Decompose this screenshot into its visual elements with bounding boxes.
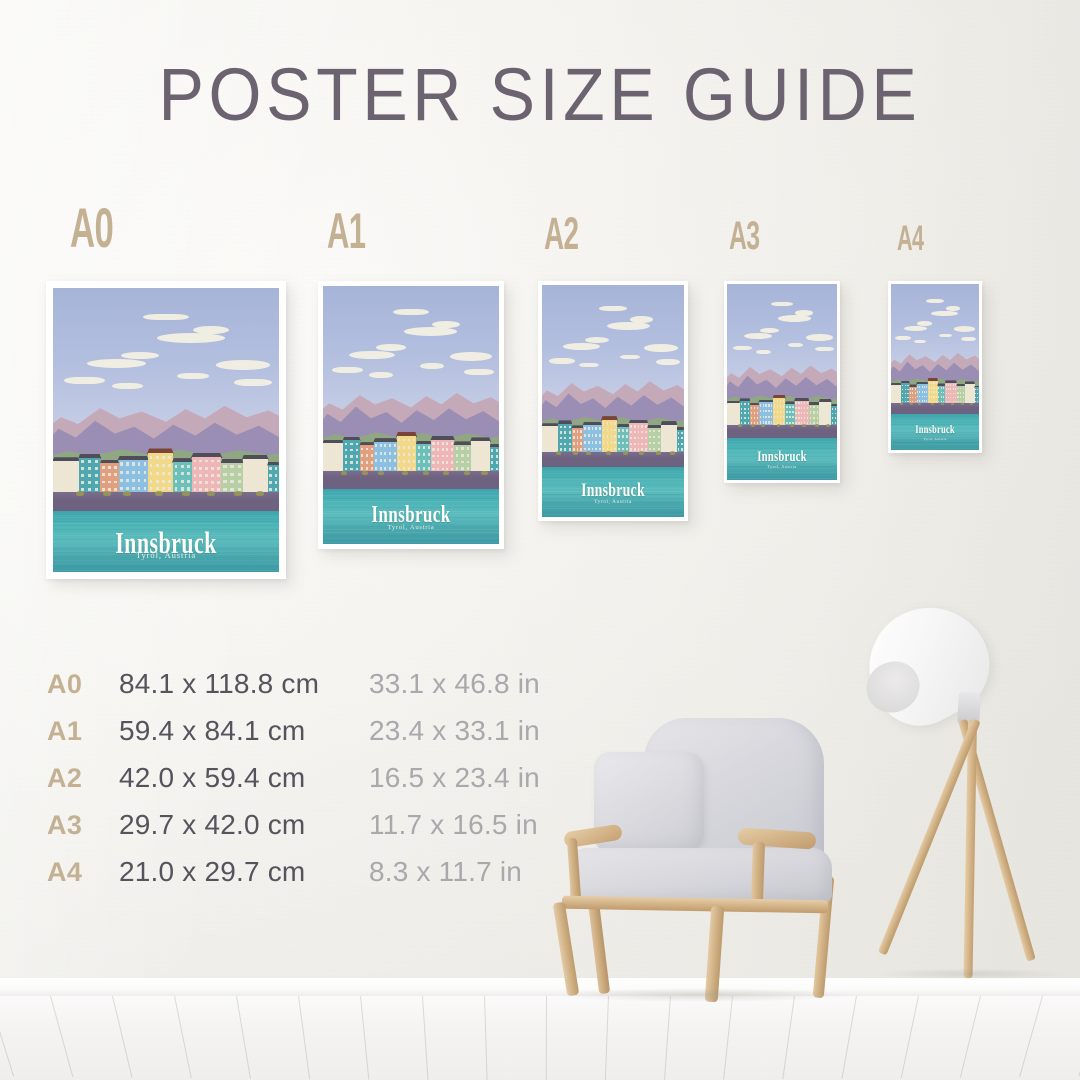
artwork-window <box>804 412 805 414</box>
artwork-window <box>269 474 272 477</box>
artwork-window <box>547 435 549 438</box>
artwork-window <box>933 382 934 384</box>
artwork-building <box>648 425 661 452</box>
artwork-window <box>61 472 64 475</box>
artwork-window <box>162 480 165 483</box>
artwork-window <box>641 443 643 445</box>
artwork-window <box>734 411 735 413</box>
artwork-cloud <box>432 321 460 328</box>
artwork-cloud <box>64 377 105 384</box>
artwork-window <box>238 480 241 483</box>
artwork-window <box>384 459 386 462</box>
artwork-building <box>323 440 343 472</box>
artwork-window <box>618 435 620 437</box>
artwork-window <box>577 442 579 444</box>
artwork-window <box>356 455 358 458</box>
artwork-window <box>760 404 761 406</box>
artwork-building-body <box>431 440 454 472</box>
artwork-window <box>491 449 493 451</box>
artwork-window <box>403 439 405 442</box>
artwork-window <box>403 460 405 463</box>
artwork-window <box>768 410 769 412</box>
artwork-bush <box>481 471 487 475</box>
poster-a2[interactable]: InnsbruckTyrol, Austria <box>538 281 688 521</box>
artwork-window <box>760 421 761 423</box>
artwork-window <box>211 488 214 491</box>
artwork-window <box>345 455 347 458</box>
artwork-window <box>375 452 377 455</box>
artwork-window <box>970 389 971 391</box>
artwork-building-body <box>740 401 750 425</box>
artwork-window <box>823 417 824 419</box>
artwork-window <box>477 468 479 470</box>
artwork-window <box>774 411 775 413</box>
artwork-window <box>835 408 836 410</box>
artwork-window <box>487 462 489 464</box>
artwork-window <box>751 412 752 414</box>
artwork-window <box>398 439 400 442</box>
artwork-window <box>389 467 391 470</box>
artwork-window <box>783 422 784 424</box>
artwork-window <box>789 411 790 413</box>
artwork-window <box>933 396 934 398</box>
artwork-window <box>912 397 913 399</box>
artwork-window <box>496 455 498 457</box>
artwork-water-ripple <box>542 506 684 507</box>
artwork-window <box>653 442 655 444</box>
artwork-window <box>461 467 463 470</box>
artwork-cloud <box>656 359 680 365</box>
artwork-window <box>783 400 784 402</box>
artwork-window <box>763 421 764 423</box>
artwork-building-body <box>323 443 343 471</box>
artwork-window <box>658 436 660 438</box>
artwork-window <box>820 403 821 405</box>
poster-artwork: InnsbruckTyrol, Austria <box>53 288 279 572</box>
artwork-water-ripple <box>323 492 499 493</box>
artwork-building <box>558 420 571 452</box>
artwork-window <box>649 436 651 438</box>
artwork-window <box>230 465 233 468</box>
artwork-window <box>398 453 400 456</box>
artwork-window <box>345 443 347 446</box>
artwork-window <box>771 421 772 423</box>
artwork-window <box>630 437 632 439</box>
artwork-building-body <box>416 444 431 472</box>
artwork-window <box>230 480 233 483</box>
floor-plank-line <box>841 996 856 1079</box>
chair-leg-front-left <box>553 902 580 997</box>
artwork-window <box>931 391 932 393</box>
artwork-window <box>162 472 165 475</box>
artwork-window <box>953 397 954 399</box>
artwork-window <box>482 468 484 470</box>
artwork-window <box>614 441 616 444</box>
poster-a4[interactable]: InnsbruckTyrol, Austria <box>888 281 982 453</box>
artwork-window <box>95 474 98 477</box>
artwork-window <box>807 417 808 419</box>
artwork-window <box>432 455 434 458</box>
artwork-window <box>618 448 620 450</box>
artwork-water-ripple <box>53 563 279 564</box>
artwork-window <box>626 435 628 437</box>
size-row-label: A1 <box>47 716 119 747</box>
artwork-window <box>832 408 833 410</box>
artwork-window <box>168 456 171 459</box>
artwork-window <box>681 437 683 439</box>
artwork-window <box>933 391 934 393</box>
artwork-window <box>580 442 582 444</box>
artwork-window <box>340 467 342 470</box>
size-label-a1: A1 <box>327 206 365 256</box>
artwork-window <box>371 448 373 451</box>
artwork-window <box>194 460 197 463</box>
artwork-window <box>807 422 808 424</box>
artwork-window <box>437 448 439 451</box>
floor-plank-line <box>50 996 73 1077</box>
artwork-window <box>199 460 202 463</box>
artwork-window <box>68 480 71 483</box>
artwork-window <box>950 388 951 390</box>
artwork-window <box>957 392 958 394</box>
artwork-window <box>350 461 352 464</box>
artwork-window <box>144 471 147 474</box>
artwork-window <box>977 397 978 399</box>
artwork-window <box>826 408 827 410</box>
floor-lamp <box>840 600 1080 1000</box>
artwork-window <box>641 425 643 427</box>
artwork-water-ripple <box>891 420 979 421</box>
artwork-building <box>583 422 601 452</box>
artwork-window <box>467 461 469 464</box>
artwork-window <box>970 385 971 387</box>
artwork-building <box>909 384 916 403</box>
artwork-window <box>641 437 643 439</box>
artwork-window <box>398 446 400 449</box>
artwork-window <box>670 432 672 434</box>
artwork-window <box>630 431 632 433</box>
artwork-window <box>132 471 135 474</box>
artwork-building-body <box>795 401 809 425</box>
artwork-window <box>126 479 129 482</box>
artwork-window <box>564 443 566 445</box>
artwork-window <box>403 467 405 470</box>
artwork-window <box>257 461 260 464</box>
artwork-building-body <box>648 428 661 452</box>
artwork-window <box>477 449 479 451</box>
artwork-building-body <box>374 442 397 472</box>
artwork-window <box>588 434 590 437</box>
floor-plank-line <box>236 996 251 1079</box>
artwork-building-body <box>471 441 490 472</box>
artwork-bush <box>378 471 384 475</box>
artwork-buildings <box>891 378 979 404</box>
floor-plank-line <box>782 996 795 1079</box>
artwork-window <box>432 461 434 464</box>
artwork-bush <box>423 471 429 475</box>
artwork-window <box>757 412 758 414</box>
artwork-building-body <box>809 405 819 426</box>
size-row-cm: 29.7 x 42.0 cm <box>119 809 369 841</box>
artwork-window <box>823 403 824 405</box>
artwork-window <box>584 427 586 430</box>
artwork-window <box>144 462 147 465</box>
artwork-window <box>175 465 178 468</box>
artwork-window <box>588 441 590 444</box>
artwork-window <box>771 416 772 418</box>
poster-a1[interactable]: InnsbruckTyrol, Austria <box>318 281 504 549</box>
artwork-bush <box>182 491 190 496</box>
artwork-water-ripple <box>891 442 979 443</box>
artwork-window <box>968 389 969 391</box>
artwork-cloud <box>914 340 926 343</box>
floor-plank-line <box>723 996 733 1080</box>
artwork-window <box>780 422 781 424</box>
poster-artwork-subtitle: Tyrol, Austria <box>542 500 684 505</box>
artwork-window <box>88 488 91 491</box>
artwork-window <box>428 467 430 470</box>
artwork-window <box>744 417 746 419</box>
poster-artwork-title: Innsbruck <box>562 481 664 500</box>
artwork-window <box>820 422 821 424</box>
artwork-window <box>55 487 58 490</box>
artwork-window <box>461 454 463 457</box>
artwork-window <box>162 464 165 467</box>
artwork-window <box>156 472 159 475</box>
artwork-window <box>74 487 77 490</box>
artwork-window <box>491 468 493 470</box>
artwork-window <box>626 448 628 450</box>
artwork-window <box>941 392 942 394</box>
artwork-window <box>329 460 331 463</box>
artwork-window <box>902 385 903 387</box>
artwork-window <box>737 411 738 413</box>
artwork-cloud <box>620 355 640 360</box>
artwork-window <box>924 396 925 398</box>
artwork-window <box>674 432 676 434</box>
artwork-window <box>217 488 220 491</box>
artwork-window <box>653 430 655 432</box>
artwork-window <box>929 396 930 398</box>
artwork-window <box>269 488 272 491</box>
artwork-building-body <box>221 463 242 493</box>
artwork-window <box>324 460 326 463</box>
artwork-bush <box>639 451 644 455</box>
artwork-window <box>780 411 781 413</box>
artwork-water-ripple <box>323 542 499 543</box>
artwork-window <box>968 397 969 399</box>
artwork-building-body <box>583 425 601 452</box>
artwork-building-body <box>727 403 740 425</box>
artwork-building-body <box>397 436 416 472</box>
size-label-a0: A0 <box>70 200 113 256</box>
artwork-water-ripple <box>727 444 837 445</box>
artwork-window <box>324 467 326 470</box>
artwork-window <box>804 407 805 409</box>
artwork-window <box>737 405 738 407</box>
artwork-window <box>912 401 913 403</box>
artwork-window <box>551 429 553 432</box>
artwork-window <box>960 396 961 398</box>
artwork-cloud <box>143 314 188 320</box>
artwork-window <box>744 412 746 414</box>
artwork-window <box>953 388 954 390</box>
artwork-window <box>748 412 750 414</box>
artwork-window <box>413 467 415 470</box>
artwork-water-ripple <box>891 414 979 415</box>
artwork-window <box>795 412 796 414</box>
artwork-window <box>902 389 903 391</box>
artwork-window <box>666 426 668 428</box>
artwork-window <box>491 455 493 457</box>
artwork-cloud <box>112 383 144 389</box>
artwork-window <box>340 460 342 463</box>
artwork-building <box>542 423 558 452</box>
artwork-window <box>245 461 248 464</box>
floor-plank-line <box>484 996 488 1080</box>
artwork-window <box>977 393 978 395</box>
artwork-window <box>491 461 493 463</box>
artwork-window <box>456 454 458 457</box>
artwork-building-body <box>119 460 148 493</box>
artwork-window <box>560 426 562 428</box>
artwork-window <box>630 443 632 445</box>
artwork-building-body <box>901 383 909 403</box>
artwork-water-ripple <box>542 477 684 478</box>
size-row-cm: 21.0 x 29.7 cm <box>119 856 369 888</box>
artwork-water-ripple <box>53 517 279 518</box>
artwork-window <box>611 429 613 432</box>
artwork-window <box>181 472 184 475</box>
artwork-window <box>938 387 939 389</box>
artwork-window <box>614 422 616 425</box>
artwork-building <box>965 381 975 403</box>
artwork-window <box>181 480 184 483</box>
artwork-window <box>584 434 586 437</box>
artwork-window <box>924 386 925 388</box>
artwork-window <box>394 444 396 447</box>
artwork-window <box>263 475 266 478</box>
artwork-cloud <box>630 316 653 322</box>
artwork-window <box>55 472 58 475</box>
artwork-window <box>774 400 775 402</box>
artwork-window <box>156 480 159 483</box>
artwork-window <box>757 417 758 419</box>
artwork-bush <box>362 471 368 475</box>
artwork-window <box>413 439 415 442</box>
artwork-window <box>380 444 382 447</box>
artwork-window <box>823 413 824 415</box>
artwork-window <box>217 467 220 470</box>
artwork-building <box>945 380 956 403</box>
artwork-water-ripple <box>323 535 499 536</box>
artwork-building-body <box>53 461 79 492</box>
artwork-window <box>138 462 141 465</box>
artwork-window <box>970 397 971 399</box>
poster-a0[interactable]: InnsbruckTyrol, Austria <box>46 281 286 579</box>
artwork-window <box>68 472 71 475</box>
artwork-window <box>902 393 903 395</box>
artwork-cloud <box>420 363 445 368</box>
artwork-window <box>356 449 358 452</box>
artwork-window <box>835 422 836 424</box>
artwork-window <box>432 448 434 451</box>
poster-a3[interactable]: InnsbruckTyrol, Austria <box>724 281 840 483</box>
artwork-window <box>817 417 819 419</box>
size-table-row: A242.0 x 59.4 cm16.5 x 23.4 in <box>47 762 540 809</box>
artwork-window <box>577 448 579 450</box>
artwork-window <box>741 412 743 414</box>
artwork-window <box>795 402 796 404</box>
artwork-window <box>120 471 123 474</box>
artwork-quay <box>542 452 684 469</box>
artwork-window <box>487 443 489 445</box>
artwork-window <box>384 444 386 447</box>
artwork-window <box>162 456 165 459</box>
artwork-window <box>795 417 796 419</box>
artwork-window <box>371 454 373 457</box>
artwork-window <box>551 435 553 438</box>
artwork-window <box>674 426 676 428</box>
artwork-window <box>953 384 954 386</box>
artwork-window <box>238 465 241 468</box>
artwork-bush <box>573 451 578 455</box>
artwork-building <box>374 438 397 472</box>
artwork-window <box>205 460 208 463</box>
artwork-window <box>120 479 123 482</box>
artwork-window <box>275 481 278 484</box>
artwork-window <box>897 396 898 398</box>
artwork-window <box>618 442 620 444</box>
size-row-in: 8.3 x 11.7 in <box>369 856 522 888</box>
artwork-window <box>394 452 396 455</box>
artwork-window <box>789 406 790 408</box>
floor-plank-line <box>174 996 192 1079</box>
artwork-window <box>187 472 190 475</box>
artwork-window <box>810 411 812 413</box>
artwork-window <box>442 442 444 445</box>
artwork-window <box>823 408 824 410</box>
artwork-window <box>168 472 171 475</box>
artwork-cloud <box>393 309 428 315</box>
artwork-window <box>366 461 368 464</box>
artwork-window <box>245 468 248 471</box>
artwork-window <box>919 396 920 398</box>
artwork-water-ripple <box>542 471 684 472</box>
artwork-window <box>584 441 586 444</box>
size-row-in: 11.7 x 16.5 in <box>369 809 538 841</box>
artwork-bush <box>606 451 611 455</box>
artwork-window <box>487 449 489 451</box>
artwork-window <box>931 382 932 384</box>
artwork-building <box>917 382 928 404</box>
artwork-cloud <box>234 379 272 386</box>
artwork-window <box>74 480 77 483</box>
artwork-cloud <box>579 363 599 368</box>
artwork-window <box>966 397 967 399</box>
artwork-window <box>245 488 248 491</box>
artwork-cloud <box>788 343 803 347</box>
size-row-label: A3 <box>47 810 119 841</box>
artwork-window <box>614 435 616 438</box>
artwork-building <box>454 441 471 471</box>
artwork-window <box>187 465 190 468</box>
artwork-window <box>894 387 895 389</box>
artwork-window <box>763 416 764 418</box>
artwork-cloud <box>376 344 406 351</box>
floor-plank-line <box>664 996 671 1080</box>
artwork-window <box>645 437 647 439</box>
